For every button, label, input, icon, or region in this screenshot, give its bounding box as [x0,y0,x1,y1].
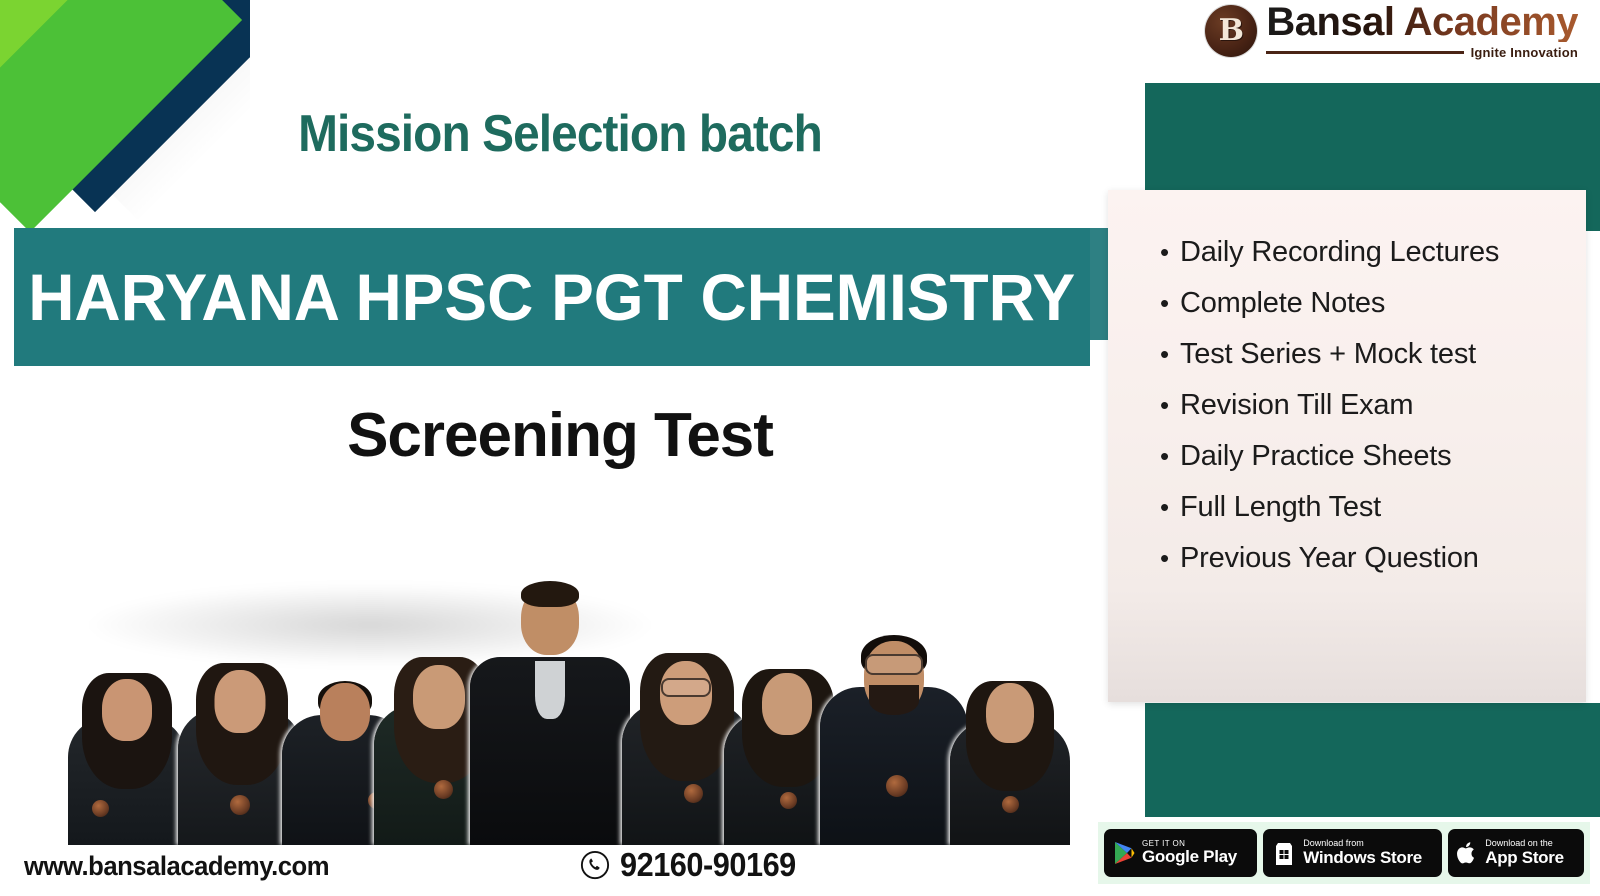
bullet-icon: • [1160,392,1180,418]
feature-item: •Previous Year Question [1160,544,1586,573]
windows-store-label: Download from Windows Store [1303,839,1422,867]
person-beard [869,685,919,715]
features-list: •Daily Recording Lectures •Complete Note… [1160,238,1586,573]
person-glasses-icon [661,678,711,697]
feature-item: •Test Series + Mock test [1160,340,1586,369]
feature-item: •Revision Till Exam [1160,391,1586,420]
feature-label: Daily Practice Sheets [1180,440,1451,472]
person-shirt-collar [535,661,565,719]
feature-item: •Complete Notes [1160,289,1586,318]
badge-title: Google Play [1142,848,1237,866]
person-glasses-icon [865,654,923,675]
page-title: HARYANA HPSC PGT CHEMISTRY [29,259,1076,335]
badge-title: App Store [1485,849,1564,867]
logo-monogram-letter: B [1219,16,1244,46]
badge-title: Windows Store [1303,849,1422,867]
bullet-icon: • [1160,494,1180,520]
app-store-badge[interactable]: Download on the App Store [1448,829,1584,877]
feature-label: Daily Recording Lectures [1180,236,1499,268]
person-badge-icon [92,800,109,817]
feature-label: Previous Year Question [1180,542,1479,574]
google-play-label: GET IT ON Google Play [1142,840,1237,867]
person-figure [820,613,968,845]
brand-tagline-row: Ignite Innovation [1266,45,1578,60]
person-figure [68,649,186,845]
person-badge-icon [1002,796,1019,813]
logo-divider [1266,51,1463,54]
kicker-text: Mission Selection batch [45,104,1075,164]
person-figure [950,661,1070,845]
logo-monogram-icon: B [1205,5,1257,57]
bullet-icon: • [1160,341,1180,367]
person-face [102,679,152,741]
feature-item: •Full Length Test [1160,493,1586,522]
person-badge-icon [434,780,453,799]
logo-wordmark: Bansal Academy Ignite Innovation [1266,2,1578,60]
bullet-icon: • [1160,239,1180,265]
app-store-label: Download on the App Store [1485,839,1564,867]
feature-label: Full Length Test [1180,491,1381,523]
features-card: •Daily Recording Lectures •Complete Note… [1108,190,1586,702]
teal-panel-bottom [1145,703,1600,817]
person-face [320,683,370,741]
person-hair [521,581,579,607]
apple-icon [1457,840,1478,866]
person-badge-icon [886,775,908,797]
phone-number: 92160-90169 [620,846,796,884]
windows-store-icon [1272,840,1296,866]
title-bar: HARYANA HPSC PGT CHEMISTRY [14,228,1090,366]
poster-canvas: B Bansal Academy Ignite Innovation •Dail… [0,0,1600,896]
brand-tagline: Ignite Innovation [1471,45,1578,60]
brand-name: Bansal Academy [1266,2,1578,42]
feature-item: •Daily Practice Sheets [1160,442,1586,471]
feature-label: Complete Notes [1180,287,1385,319]
person-face [413,665,465,729]
phone-contact: 92160-90169 [580,846,809,884]
person-badge-icon [230,795,250,815]
brand-logo: B Bansal Academy Ignite Innovation [1205,2,1578,60]
feature-label: Revision Till Exam [1180,389,1413,421]
windows-store-badge[interactable]: Download from Windows Store [1263,829,1442,877]
person-face [762,673,812,735]
person-face [986,683,1034,743]
bullet-icon: • [1160,545,1180,571]
page-subtitle: Screening Test [0,400,1120,471]
website-text: www.bansalacademy.com [24,851,329,882]
bullet-icon: • [1160,443,1180,469]
person-face [215,670,266,733]
person-badge-icon [780,792,797,809]
google-play-icon [1113,841,1135,865]
phone-circle-icon [580,850,610,880]
feature-item: •Daily Recording Lectures [1160,238,1586,267]
faculty-team-photo [30,575,1090,845]
google-play-badge[interactable]: GET IT ON Google Play [1104,829,1257,877]
app-store-badges: GET IT ON Google Play Download from Wind… [1098,822,1590,884]
feature-label: Test Series + Mock test [1180,338,1476,370]
person-figure-lead [470,583,630,845]
person-badge-icon [684,784,703,803]
bullet-icon: • [1160,290,1180,316]
